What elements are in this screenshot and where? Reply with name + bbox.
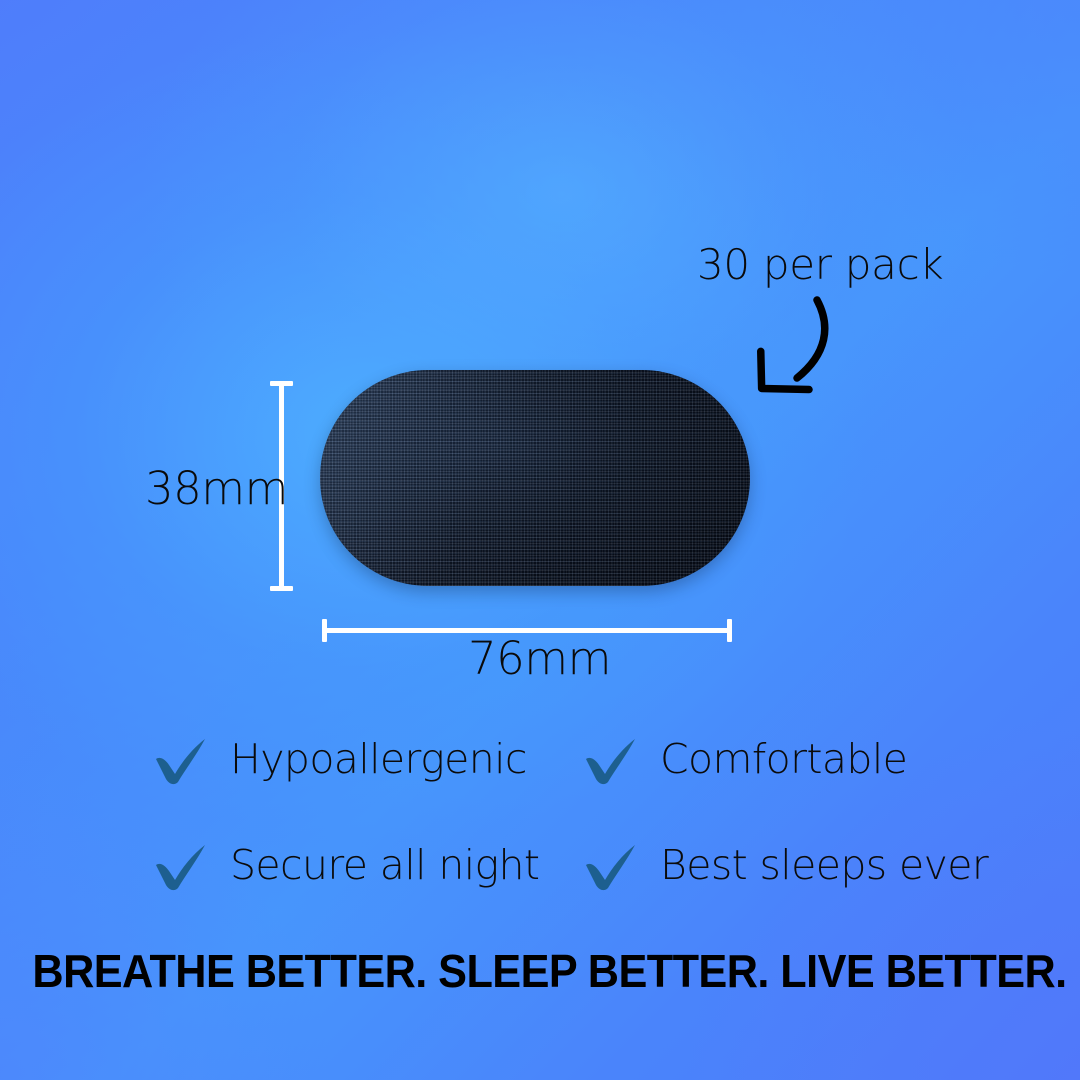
feature-label: Secure all night [230, 841, 539, 889]
tagline: BREATHE BETTER. SLEEP BETTER. LIVE BETTE… [32, 944, 1047, 998]
width-dimension-label: 76mm [468, 632, 611, 685]
feature-label: Hypoallergenic [230, 735, 527, 783]
feature-item-comfortable: Comfortable [580, 706, 1010, 812]
width-dimension-cap-left [322, 619, 327, 642]
feature-list: Hypoallergenic Comfortable Secure all ni… [150, 706, 1030, 918]
fabric-sheen [320, 370, 750, 586]
check-icon [150, 838, 212, 892]
check-icon [580, 838, 642, 892]
feature-label: Best sleeps ever [660, 841, 988, 889]
curved-arrow-icon [735, 292, 845, 407]
height-dimension-cap-bottom [270, 586, 293, 591]
product-strip [320, 370, 750, 586]
width-dimension-cap-right [727, 619, 732, 642]
feature-item-best-sleeps-ever: Best sleeps ever [580, 812, 1010, 918]
feature-item-hypoallergenic: Hypoallergenic [150, 706, 580, 812]
height-dimension-cap-top [270, 381, 293, 386]
check-icon [150, 732, 212, 786]
product-strip-body [320, 370, 750, 586]
height-dimension-label: 38mm [145, 462, 288, 515]
feature-label: Comfortable [660, 735, 907, 783]
pack-count-callout-label: 30 per pack [697, 240, 943, 289]
feature-item-secure-all-night: Secure all night [150, 812, 580, 918]
check-icon [580, 732, 642, 786]
